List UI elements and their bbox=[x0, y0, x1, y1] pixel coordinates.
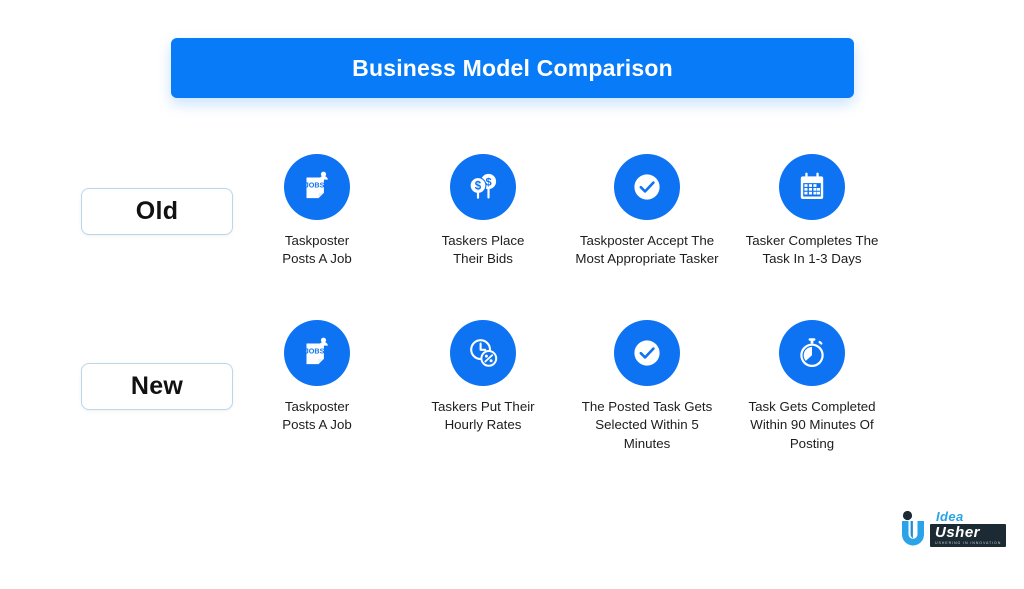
step-new-1: JOBS Taskposter Posts A Job bbox=[222, 320, 412, 435]
step-old-2-caption: Taskers Place Their Bids bbox=[388, 232, 578, 269]
caption-line: Posts A Job bbox=[222, 250, 412, 268]
step-old-3: Taskposter Accept The Most Appropriate T… bbox=[552, 154, 742, 269]
caption-line: Taskposter Accept The bbox=[552, 232, 742, 250]
calendar-icon bbox=[779, 154, 845, 220]
logo-tagline: USHERING IN INNOVATION bbox=[935, 541, 1001, 546]
check-circle-icon bbox=[614, 154, 680, 220]
step-new-4: Task Gets Completed Within 90 Minutes Of… bbox=[717, 320, 907, 453]
row-label-old-text: Old bbox=[136, 197, 179, 226]
caption-line: Task In 1-3 Days bbox=[717, 250, 907, 268]
jobs-document-icon: JOBS bbox=[284, 320, 350, 386]
svg-text:$: $ bbox=[475, 181, 482, 193]
caption-line: Taskposter bbox=[222, 232, 412, 250]
step-old-3-caption: Taskposter Accept The Most Appropriate T… bbox=[552, 232, 742, 269]
caption-line: Most Appropriate Tasker bbox=[552, 250, 742, 268]
row-label-old: Old bbox=[81, 188, 233, 235]
step-new-3: The Posted Task Gets Selected Within 5 M… bbox=[552, 320, 742, 453]
jobs-icon-label: JOBS bbox=[305, 180, 325, 189]
logo-usher-text: Usher bbox=[935, 525, 1001, 541]
step-new-3-caption: The Posted Task Gets Selected Within 5 M… bbox=[552, 398, 742, 453]
caption-line: Within 90 Minutes Of bbox=[717, 416, 907, 434]
dollar-bid-paddles-icon: $ $ bbox=[450, 154, 516, 220]
caption-line: Minutes bbox=[552, 435, 742, 453]
row-label-new-text: New bbox=[131, 372, 183, 401]
caption-line: Taskers Put Their bbox=[388, 398, 578, 416]
caption-line: Taskers Place bbox=[388, 232, 578, 250]
step-new-2-caption: Taskers Put Their Hourly Rates bbox=[388, 398, 578, 435]
idea-usher-logo: Idea Usher USHERING IN INNOVATION bbox=[898, 505, 1008, 553]
logo-idea-text: Idea bbox=[936, 509, 964, 524]
logo-u-mark-icon bbox=[898, 509, 932, 554]
caption-line: Task Gets Completed bbox=[717, 398, 907, 416]
caption-line: The Posted Task Gets bbox=[552, 398, 742, 416]
logo-usher-block: Usher USHERING IN INNOVATION bbox=[930, 524, 1006, 547]
step-new-4-caption: Task Gets Completed Within 90 Minutes Of… bbox=[717, 398, 907, 453]
stopwatch-icon bbox=[779, 320, 845, 386]
clock-percent-icon bbox=[450, 320, 516, 386]
step-old-4: Tasker Completes The Task In 1-3 Days bbox=[717, 154, 907, 269]
slide-canvas: Business Model Comparison Old New JOBS T… bbox=[0, 0, 1024, 589]
step-old-1-caption: Taskposter Posts A Job bbox=[222, 232, 412, 269]
step-old-1: JOBS Taskposter Posts A Job bbox=[222, 154, 412, 269]
caption-line: Selected Within 5 bbox=[552, 416, 742, 434]
caption-line: Posting bbox=[717, 435, 907, 453]
step-old-2: $ $ Taskers Place Their Bids bbox=[388, 154, 578, 269]
caption-line: Their Bids bbox=[388, 250, 578, 268]
caption-line: Tasker Completes The bbox=[717, 232, 907, 250]
caption-line: Taskposter bbox=[222, 398, 412, 416]
caption-line: Hourly Rates bbox=[388, 416, 578, 434]
jobs-document-icon: JOBS bbox=[284, 154, 350, 220]
caption-line: Posts A Job bbox=[222, 416, 412, 434]
check-circle-icon bbox=[614, 320, 680, 386]
step-new-2: Taskers Put Their Hourly Rates bbox=[388, 320, 578, 435]
page-title: Business Model Comparison bbox=[352, 55, 673, 82]
row-label-new: New bbox=[81, 363, 233, 410]
step-new-1-caption: Taskposter Posts A Job bbox=[222, 398, 412, 435]
step-old-4-caption: Tasker Completes The Task In 1-3 Days bbox=[717, 232, 907, 269]
jobs-icon-label: JOBS bbox=[305, 346, 325, 355]
page-title-banner: Business Model Comparison bbox=[171, 38, 854, 98]
